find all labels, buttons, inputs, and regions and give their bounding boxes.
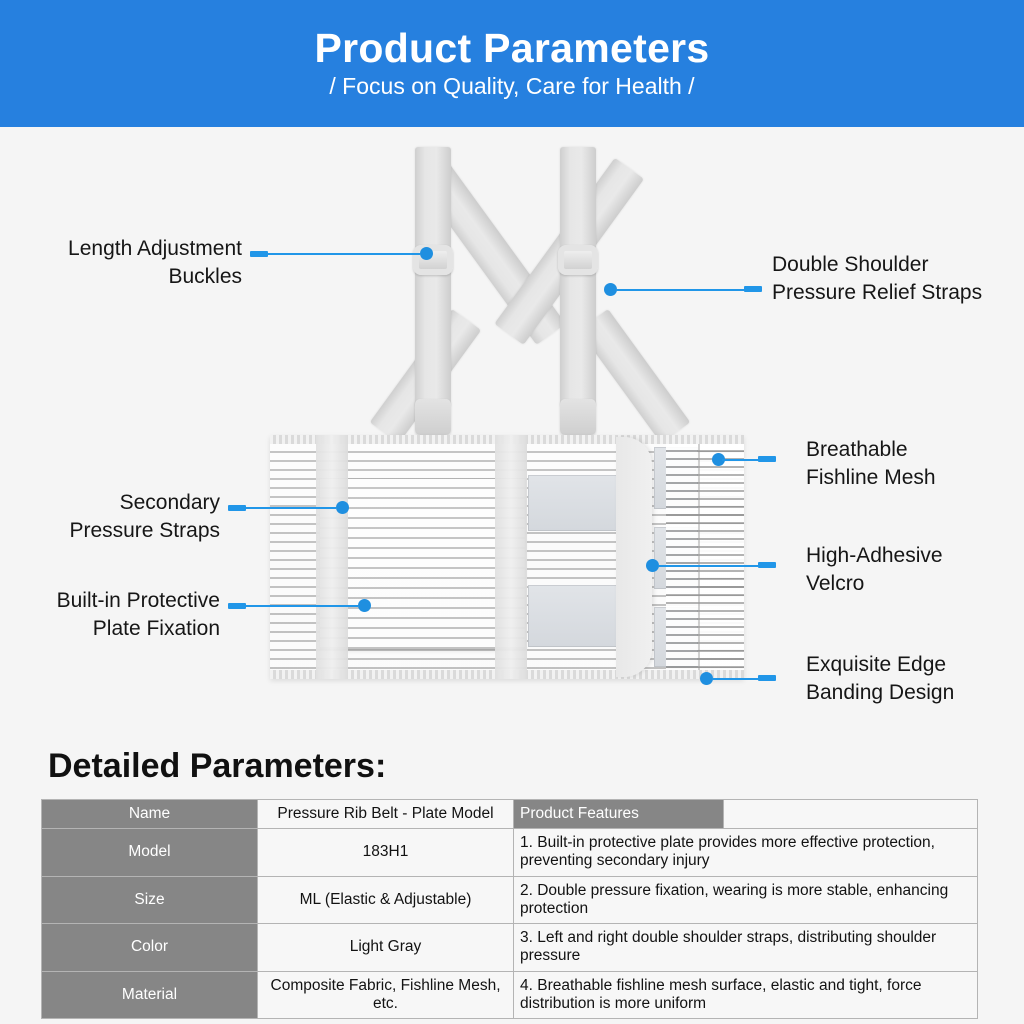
callout-line-2: Fishline Mesh — [806, 464, 1022, 492]
spec-value-color: Light Gray — [258, 924, 514, 972]
spec-label-model: Model — [42, 829, 258, 877]
table-row: Color Light Gray 3. Left and right doubl… — [42, 924, 978, 972]
velcro-patch-lower — [528, 585, 618, 647]
callout-double-shoulder-straps: Double Shoulder Pressure Relief Straps — [772, 251, 1022, 306]
callout-breathable-fishline-mesh: Breathable Fishline Mesh — [806, 436, 1022, 491]
features-header-spacer — [724, 800, 978, 829]
spec-value-material: Composite Fabric, Fishline Mesh, etc. — [258, 971, 514, 1019]
leader-dot-secondary-straps — [336, 501, 349, 514]
shoulder-strap-right-vertical — [560, 147, 596, 407]
leader-line-fishline-mesh — [722, 459, 758, 461]
feature-item-1: 1. Built-in protective plate provides mo… — [514, 829, 978, 877]
strap-tab-right — [560, 399, 596, 435]
callout-line-2: Plate Fixation — [20, 615, 220, 643]
leader-dot-plate-fixation — [358, 599, 371, 612]
detailed-parameters-title: Detailed Parameters: — [48, 747, 386, 786]
leader-cap-plate-fixation — [228, 603, 246, 609]
callout-line-2: Pressure Straps — [20, 517, 220, 545]
feature-item-2: 2. Double pressure fixation, wearing is … — [514, 876, 978, 924]
edge-banding-flap — [616, 437, 652, 677]
secondary-pressure-strap-right — [495, 435, 527, 679]
leader-cap-secondary-straps — [228, 505, 246, 511]
shoulder-strap-left-vertical — [415, 147, 451, 407]
secondary-pressure-strap-left — [316, 435, 348, 679]
strap-tab-left — [415, 399, 451, 435]
feature-item-3: 3. Left and right double shoulder straps… — [514, 924, 978, 972]
callout-line-2: Buckles — [20, 263, 242, 291]
callout-length-adjustment-buckles: Length Adjustment Buckles — [20, 235, 242, 290]
spec-label-size: Size — [42, 876, 258, 924]
leader-line-secondary-straps — [246, 507, 336, 509]
table-row: Name Pressure Rib Belt - Plate Model Pro… — [42, 800, 978, 829]
belt-seam-vertical — [698, 444, 700, 670]
leader-line-shoulder-straps — [616, 289, 744, 291]
table-row: Model 183H1 1. Built-in protective plate… — [42, 829, 978, 877]
fishline-mesh-band — [666, 444, 744, 670]
callout-line-1: Built-in Protective — [20, 587, 220, 615]
callout-line-1: Length Adjustment — [20, 235, 242, 263]
leader-cap-velcro — [758, 562, 776, 568]
spec-value-name: Pressure Rib Belt - Plate Model — [258, 800, 514, 829]
page-subtitle: / Focus on Quality, Care for Health / — [329, 74, 694, 99]
page-header: Product Parameters / Focus on Quality, C… — [0, 0, 1024, 127]
callout-high-adhesive-velcro: High-Adhesive Velcro — [806, 542, 1022, 597]
belt-body — [270, 435, 744, 679]
callout-exquisite-edge-banding: Exquisite Edge Banding Design — [806, 651, 1022, 706]
callout-built-in-protective-plate: Built-in Protective Plate Fixation — [20, 587, 220, 642]
product-illustration: Length Adjustment Buckles Secondary Pres… — [0, 127, 1024, 737]
callout-line-1: Breathable — [806, 436, 1022, 464]
parameters-table: Name Pressure Rib Belt - Plate Model Pro… — [41, 799, 978, 1019]
spec-value-size: ML (Elastic & Adjustable) — [258, 876, 514, 924]
spec-value-model: 183H1 — [258, 829, 514, 877]
callout-line-2: Velcro — [806, 570, 1022, 598]
leader-line-buckles — [268, 253, 420, 255]
length-adjustment-buckle-right — [558, 245, 598, 275]
callout-line-1: High-Adhesive — [806, 542, 1022, 570]
leader-line-plate-fixation — [246, 605, 358, 607]
spec-label-color: Color — [42, 924, 258, 972]
callout-line-1: Double Shoulder — [772, 251, 1022, 279]
spec-label-name: Name — [42, 800, 258, 829]
callout-line-1: Secondary — [20, 489, 220, 517]
spec-label-material: Material — [42, 971, 258, 1019]
callout-line-2: Banding Design — [806, 679, 1022, 707]
leader-line-velcro — [658, 565, 758, 567]
callout-secondary-pressure-straps: Secondary Pressure Straps — [20, 489, 220, 544]
leader-cap-buckles — [250, 251, 268, 257]
page-title: Product Parameters — [314, 27, 709, 70]
leader-cap-shoulder-straps — [744, 286, 762, 292]
leader-cap-fishline-mesh — [758, 456, 776, 462]
leader-dot-buckles — [420, 247, 433, 260]
table-row: Material Composite Fabric, Fishline Mesh… — [42, 971, 978, 1019]
leader-cap-edge-banding — [758, 675, 776, 681]
length-adjustment-buckle-left — [413, 245, 453, 275]
velcro-patch-upper — [528, 475, 618, 531]
product-features-header: Product Features — [514, 800, 724, 829]
callout-line-2: Pressure Relief Straps — [772, 279, 1022, 307]
table-row: Size ML (Elastic & Adjustable) 2. Double… — [42, 876, 978, 924]
leader-line-edge-banding — [712, 678, 758, 680]
callout-line-1: Exquisite Edge — [806, 651, 1022, 679]
feature-item-4: 4. Breathable fishline mesh surface, ela… — [514, 971, 978, 1019]
